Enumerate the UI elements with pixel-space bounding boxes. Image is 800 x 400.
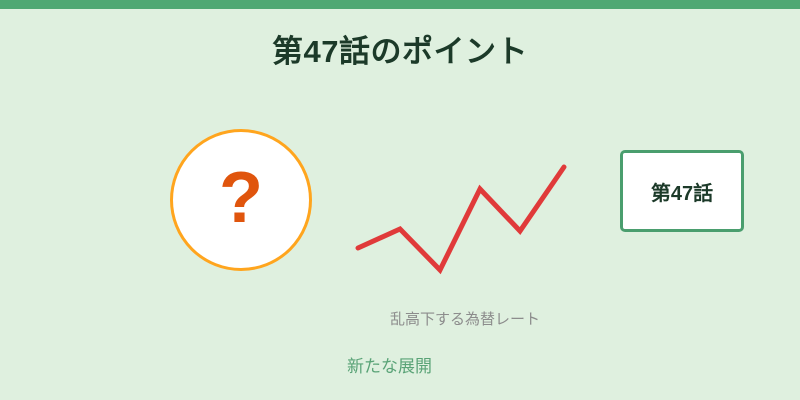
chart-caption: 乱高下する為替レート bbox=[340, 308, 590, 329]
top-accent-bar bbox=[0, 0, 800, 9]
episode-box: 第47話 bbox=[620, 150, 744, 232]
development-note: 新たな展開 bbox=[347, 352, 432, 377]
slide-canvas: 第47話のポイント ? 乱高下する為替レート 新たな展開 第47話 bbox=[0, 0, 800, 400]
page-title: 第47話のポイント bbox=[0, 33, 800, 70]
question-badge: ? bbox=[170, 129, 312, 271]
volatility-line-chart bbox=[345, 150, 580, 290]
chart-line-series bbox=[358, 167, 564, 270]
question-mark-icon: ? bbox=[173, 132, 309, 268]
episode-box-label: 第47話 bbox=[651, 177, 713, 206]
